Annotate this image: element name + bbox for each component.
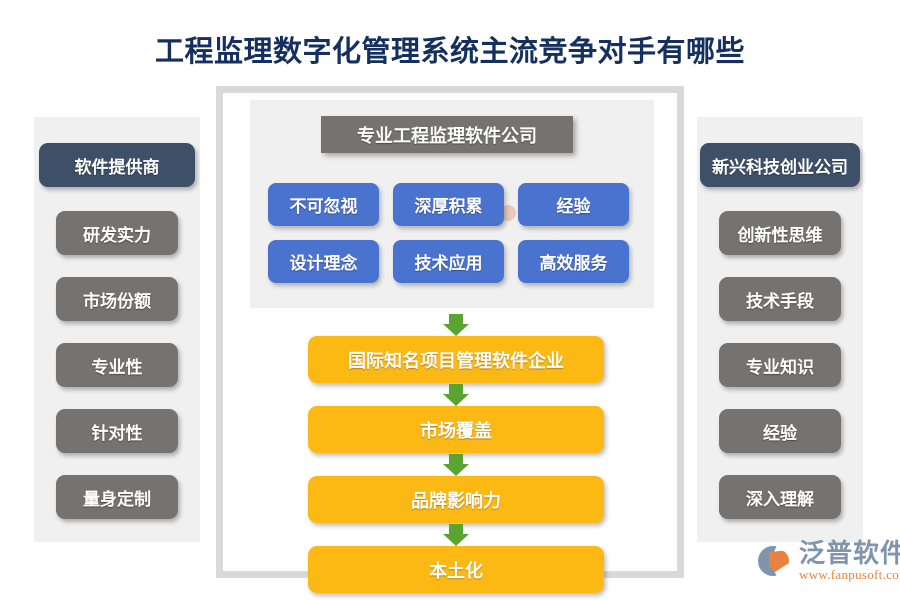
left-item-0[interactable]: 研发实力 bbox=[56, 211, 178, 255]
flow-box-0[interactable]: 国际知名项目管理软件企业 bbox=[308, 336, 604, 383]
blue-box-3[interactable]: 设计理念 bbox=[268, 240, 379, 283]
right-item-4[interactable]: 深入理解 bbox=[719, 475, 841, 519]
brand-logo-text: 泛普软件 www.fanpusoft.com bbox=[799, 540, 900, 582]
blue-box-2[interactable]: 经验 bbox=[518, 183, 629, 226]
arrow-wrap-3 bbox=[308, 523, 604, 546]
infographic-page: 工程监理数字化管理系统主流竞争对手有哪些 软件提供商 研发实力 市场份额 专业性… bbox=[0, 0, 900, 600]
left-column-header: 软件提供商 bbox=[39, 143, 195, 187]
left-item-1[interactable]: 市场份额 bbox=[56, 277, 178, 321]
arrow-wrap-2 bbox=[308, 453, 604, 476]
brand-logo: 泛普软件 www.fanpusoft.com bbox=[758, 540, 900, 582]
left-item-2[interactable]: 专业性 bbox=[56, 343, 178, 387]
blue-box-0[interactable]: 不可忽视 bbox=[268, 183, 379, 226]
brand-url: www.fanpusoft.com bbox=[799, 568, 900, 582]
arrow-wrap-0 bbox=[308, 313, 604, 336]
arrow-down-icon bbox=[443, 454, 469, 476]
arrow-down-icon bbox=[443, 314, 469, 336]
center-header-box: 专业工程监理软件公司 bbox=[321, 116, 573, 153]
flow-box-3[interactable]: 本土化 bbox=[308, 546, 604, 593]
fanpu-logo-icon bbox=[758, 544, 792, 578]
left-item-3[interactable]: 针对性 bbox=[56, 409, 178, 453]
blue-box-4[interactable]: 技术应用 bbox=[393, 240, 504, 283]
arrow-wrap-1 bbox=[308, 383, 604, 406]
page-title: 工程监理数字化管理系统主流竞争对手有哪些 bbox=[0, 28, 900, 70]
flow-box-1[interactable]: 市场覆盖 bbox=[308, 406, 604, 453]
arrow-down-icon bbox=[443, 524, 469, 546]
blue-box-1[interactable]: 深厚积累 bbox=[393, 183, 504, 226]
right-item-0[interactable]: 创新性思维 bbox=[719, 211, 841, 255]
right-column-header: 新兴科技创业公司 bbox=[700, 143, 860, 187]
right-item-1[interactable]: 技术手段 bbox=[719, 277, 841, 321]
brand-name-cn: 泛普软件 bbox=[799, 540, 900, 567]
blue-box-grid: 不可忽视 深厚积累 经验 设计理念 技术应用 高效服务 bbox=[268, 183, 630, 283]
arrow-down-icon bbox=[443, 384, 469, 406]
left-column-panel: 软件提供商 研发实力 市场份额 专业性 针对性 量身定制 bbox=[34, 117, 200, 542]
left-item-4[interactable]: 量身定制 bbox=[56, 475, 178, 519]
flow-chain: 国际知名项目管理软件企业 市场覆盖 品牌影响力 本土化 bbox=[308, 313, 604, 593]
right-column-panel: 新兴科技创业公司 创新性思维 技术手段 专业知识 经验 深入理解 bbox=[697, 117, 863, 542]
right-item-3[interactable]: 经验 bbox=[719, 409, 841, 453]
flow-box-2[interactable]: 品牌影响力 bbox=[308, 476, 604, 523]
right-item-2[interactable]: 专业知识 bbox=[719, 343, 841, 387]
blue-box-5[interactable]: 高效服务 bbox=[518, 240, 629, 283]
